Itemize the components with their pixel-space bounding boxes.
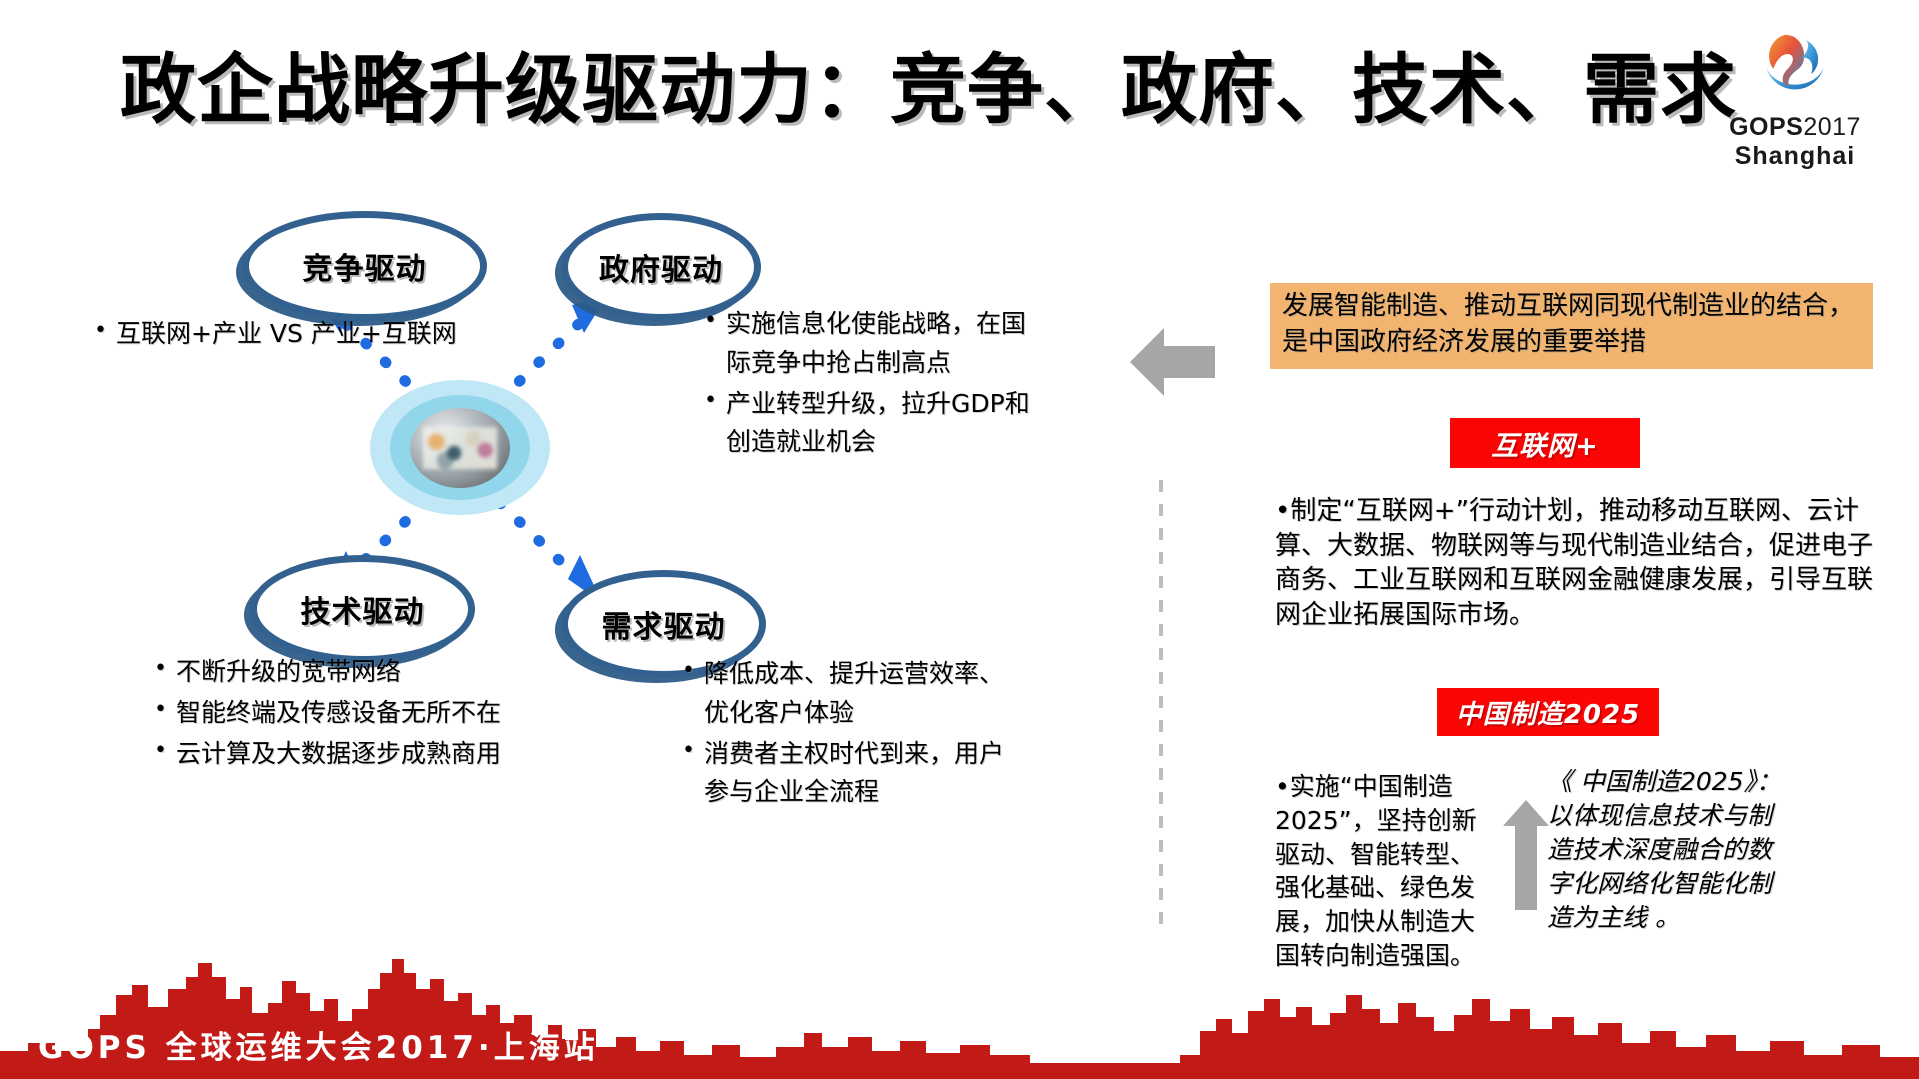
- bullet-line: 云计算及大数据逐步成熟商用: [176, 739, 501, 768]
- list-item: 产业转型升级，拉升GDP和 创造就业机会: [700, 385, 1080, 463]
- bullet-line: 不断升级的宽带网络: [176, 657, 401, 686]
- slide-canvas: 政企战略升级驱动力：竞争、政府、技术、需求 GOPS2017 Shangha: [0, 0, 1919, 1079]
- left-arrow-icon: [1130, 320, 1215, 405]
- bullet-line: 消费者主权时代到来，用户: [704, 739, 1004, 768]
- node-compete[interactable]: 竞争驱动: [242, 211, 487, 321]
- node-technology[interactable]: 技术驱动: [250, 555, 475, 663]
- list-item: 不断升级的宽带网络: [150, 653, 620, 692]
- list-item: 降低成本、提升运营效率、 优化客户体验: [678, 655, 1078, 733]
- up-arrow-icon: [1503, 800, 1549, 910]
- government-bullets: 实施信息化使能战略，在国 际竞争中抢占制高点 产业转型升级，拉升GDP和 创造就…: [700, 305, 1080, 464]
- vertical-divider: [1159, 480, 1163, 935]
- compete-bullets: 互联网+产业 VS 产业+互联网: [90, 315, 510, 356]
- bullet-line: 实施信息化使能战略，在国: [726, 309, 1026, 338]
- bullet-line: 降低成本、提升运营效率、: [704, 659, 1004, 688]
- demand-bullets: 降低成本、提升运营效率、 优化客户体验 消费者主权时代到来，用户 参与企业全流程: [678, 655, 1078, 814]
- bullet-line: 互联网+产业 VS 产业+互联网: [116, 319, 457, 348]
- made2025-quote: 《 中国制造2025》：以体现信息技术与制造技术深度融合的数字化网络化智能化制造…: [1547, 765, 1792, 935]
- bullet-line: 产业转型升级，拉升GDP和: [726, 389, 1030, 418]
- list-item: 智能终端及传感设备无所不在: [150, 694, 620, 733]
- node-technology-label: 技术驱动: [301, 587, 425, 631]
- bullet-line-cont: 优化客户体验: [704, 694, 1078, 733]
- bullet-line-cont: 创造就业机会: [726, 423, 1080, 462]
- bullet-line: 智能终端及传感设备无所不在: [176, 698, 501, 727]
- badge-made-in-china-2025: 中国制造2025: [1437, 688, 1659, 736]
- diagram-connectors: [0, 185, 1120, 975]
- badge-internet-plus: 互联网+: [1450, 418, 1640, 468]
- made2025-paragraph: •实施“中国制造2025”，坚持创新驱动、智能转型、强化基础、绿色发展，加快从制…: [1275, 770, 1493, 973]
- right-panel: 发展智能制造、推动互联网同现代制造业的结合，是中国政府经济发展的重要举措 互联网…: [1255, 0, 1919, 1079]
- node-demand-label: 需求驱动: [602, 602, 726, 646]
- highlight-box: 发展智能制造、推动互联网同现代制造业的结合，是中国政府经济发展的重要举措: [1270, 283, 1873, 369]
- internet-plus-paragraph: •制定“互联网+”行动计划，推动移动互联网、云计算、大数据、物联网等与现代制造业…: [1275, 494, 1895, 632]
- node-compete-label: 竞争驱动: [303, 244, 427, 288]
- driver-diagram: 竞争驱动 政府驱动 技术驱动 需求驱动 互联网+产业 VS 产业+互联网: [0, 185, 1120, 975]
- node-government-label: 政府驱动: [599, 245, 723, 289]
- list-item: 实施信息化使能战略，在国 际竞争中抢占制高点: [700, 305, 1080, 383]
- footer-title: GOPS 全球运维大会2017·上海站: [38, 1022, 599, 1067]
- hub-photo-icon: [423, 427, 497, 469]
- hub-core: [410, 408, 510, 488]
- diagram-center-hub: [370, 380, 550, 515]
- list-item: 云计算及大数据逐步成熟商用: [150, 735, 620, 774]
- footer-skyline: GOPS 全球运维大会2017·上海站: [0, 959, 1919, 1079]
- technology-bullets: 不断升级的宽带网络 智能终端及传感设备无所不在 云计算及大数据逐步成熟商用: [150, 653, 620, 775]
- bullet-line-cont: 参与企业全流程: [704, 773, 1078, 812]
- bullet-line-cont: 际竞争中抢占制高点: [726, 344, 1080, 383]
- list-item: 互联网+产业 VS 产业+互联网: [90, 315, 510, 354]
- list-item: 消费者主权时代到来，用户 参与企业全流程: [678, 735, 1078, 813]
